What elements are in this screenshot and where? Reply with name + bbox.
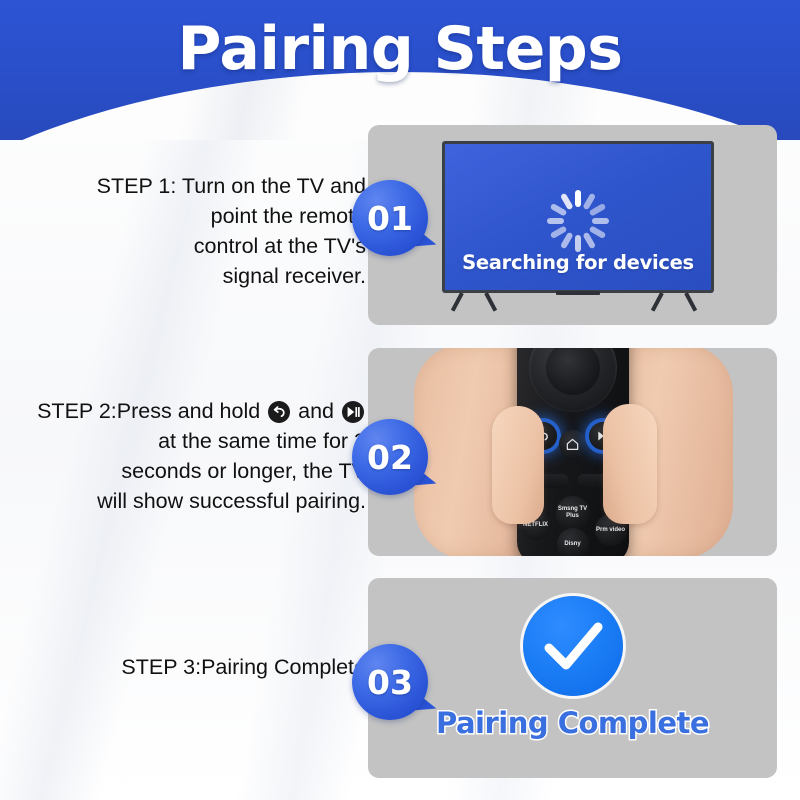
step-2-line-1: STEP 2:Press and hold and (6, 396, 366, 426)
tv-screen: Searching for devices (445, 144, 711, 290)
step-1-line-3: control at the TV's (6, 231, 366, 261)
tv-leg-right (656, 293, 700, 310)
step-1-badge: 01 (352, 180, 428, 256)
step-2-badge-number: 02 (352, 419, 428, 495)
step-3-badge-number: 03 (352, 644, 428, 720)
step-1-text: STEP 1: Turn on the TV and point the rem… (6, 171, 366, 291)
left-index-finger (492, 406, 544, 524)
tv-base-strip (556, 291, 600, 295)
remote-in-hands-photo: NETFLIX Smsng TV Plus Prm video Disny (368, 348, 777, 556)
step-3-line-1: STEP 3:Pairing Complete (6, 652, 366, 682)
step-1-badge-number: 01 (352, 180, 428, 256)
dpad-ring (529, 348, 617, 412)
step-2-line-2: at the same time for 3 (6, 426, 366, 456)
tv-illustration: Searching for devices (442, 141, 714, 293)
pairing-steps-infographic: Pairing Steps STEP 1: Turn on the TV and… (0, 0, 800, 800)
step-2-badge: 02 (352, 419, 428, 495)
step-3-badge: 03 (352, 644, 428, 720)
step-1-line-2: point the remote (6, 201, 366, 231)
step-1-line-4: signal receiver. (6, 261, 366, 291)
page-title: Pairing Steps (0, 14, 800, 84)
step-1-panel: Searching for devices (368, 125, 777, 325)
remote-home-button (559, 430, 587, 458)
step-1-line-1: STEP 1: Turn on the TV and (6, 171, 366, 201)
dpad-center-button (546, 348, 600, 395)
step-3-text: STEP 3:Pairing Complete (6, 652, 366, 682)
step-3-panel: Pairing Complete (368, 578, 777, 778)
tv-screen-caption: Searching for devices (445, 251, 711, 274)
checkmark-icon (523, 596, 623, 696)
step-2-text: STEP 2:Press and hold and at the same ti… (6, 396, 366, 516)
step-2-text-part-1: STEP 2:Press and hold (37, 399, 266, 423)
loading-spinner-icon (545, 188, 611, 254)
tv-bezel: Searching for devices (442, 141, 714, 293)
step-2-line-3: seconds or longer, the TV (6, 456, 366, 486)
right-index-finger (603, 404, 657, 524)
step-2-panel: NETFLIX Smsng TV Plus Prm video Disny (368, 348, 777, 556)
step-2-line-4: will show successful pairing. (6, 486, 366, 516)
tv-leg-left (456, 293, 500, 310)
remote-app-button-disney: Disny (557, 528, 589, 556)
remote-app-button-samsung-tv-plus: Smsng TV Plus (556, 496, 590, 530)
step-2-text-between: and (292, 399, 340, 423)
back-arrow-icon (268, 401, 290, 423)
